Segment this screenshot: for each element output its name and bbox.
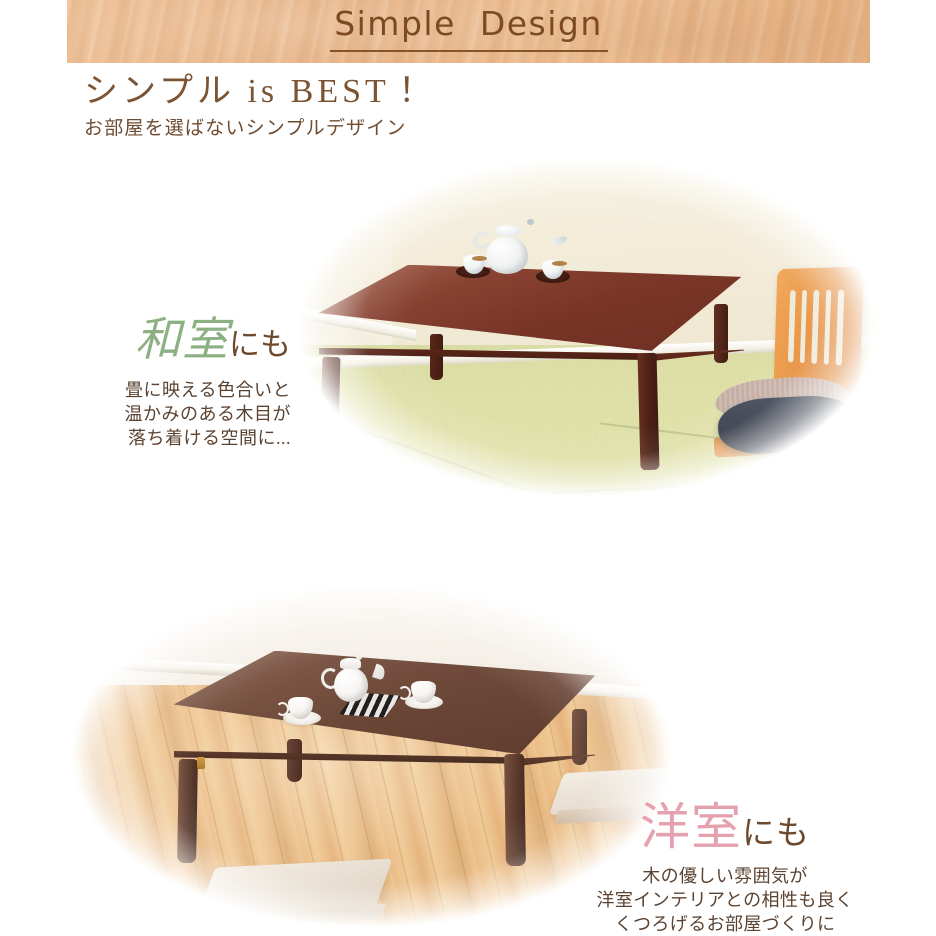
caption-yoshitsu: 洋室にも 木の優しい雰囲気が 洋室インテリアとの相性も良く くつろげるお部屋づく… bbox=[560, 802, 890, 936]
chair-back-slot bbox=[835, 291, 843, 367]
washitsu-heading: 和室にも bbox=[76, 316, 291, 362]
table-leg-front-left bbox=[177, 758, 197, 862]
yoshitsu-body-text: 木の優しい雰囲気が 洋室インテリアとの相性も良く くつろげるお部屋づくりに bbox=[560, 864, 890, 936]
table-leg-back-right bbox=[714, 304, 729, 363]
low-table-yoshitsu bbox=[174, 651, 596, 867]
table-leg-front-right bbox=[637, 353, 659, 470]
washitsu-heading-kanji: 和室 bbox=[135, 312, 229, 366]
coffee-cup-left-handle bbox=[276, 702, 289, 716]
header-wood-banner: Simple Design bbox=[67, 0, 870, 63]
caption-washitsu: 和室にも 畳に映える色合いと 温かみのある木目が 落ち着ける空間に... bbox=[76, 316, 291, 450]
chair-back-slot bbox=[811, 291, 819, 365]
yoshitsu-heading-kana: にも bbox=[742, 813, 810, 852]
table-top-sheen bbox=[319, 265, 746, 351]
tatami-seam bbox=[368, 472, 892, 503]
table-leg-back-left bbox=[430, 334, 444, 379]
lead-headline: シンプル is BEST！ bbox=[84, 74, 644, 111]
table-leg-front-right bbox=[504, 754, 526, 867]
lead-subline: お部屋を選ばないシンプルデザイン bbox=[84, 118, 644, 141]
coffee-pot-knob bbox=[356, 654, 362, 660]
teapot-body bbox=[486, 237, 528, 274]
coffee-pot-neck bbox=[340, 658, 361, 669]
chair-back-slot bbox=[823, 291, 831, 366]
table-folding-latch bbox=[197, 757, 205, 769]
yoshitsu-heading: 洋室にも bbox=[560, 802, 890, 852]
table-leg-front-left bbox=[319, 357, 340, 468]
table-leg-back-left bbox=[287, 739, 301, 782]
teapot-lid bbox=[494, 225, 521, 236]
low-table-washitsu bbox=[319, 265, 746, 470]
chair-back-slot bbox=[788, 291, 796, 363]
lead-copy-block: シンプル is BEST！ お部屋を選ばないシンプルデザイン bbox=[84, 74, 644, 141]
chair-back-slot bbox=[799, 291, 807, 364]
photo-washitsu-room bbox=[282, 144, 892, 510]
coffee-pot-body bbox=[334, 668, 368, 702]
washitsu-heading-kana: にも bbox=[229, 327, 291, 363]
title-underline bbox=[330, 50, 608, 52]
yoshitsu-heading-kanji: 洋室 bbox=[640, 798, 742, 856]
page-title: Simple Design bbox=[67, 4, 870, 43]
washitsu-body-text: 畳に映える色合いと 温かみのある木目が 落ち着ける空間に... bbox=[76, 378, 291, 450]
coffee-cup-right-handle bbox=[398, 686, 411, 700]
